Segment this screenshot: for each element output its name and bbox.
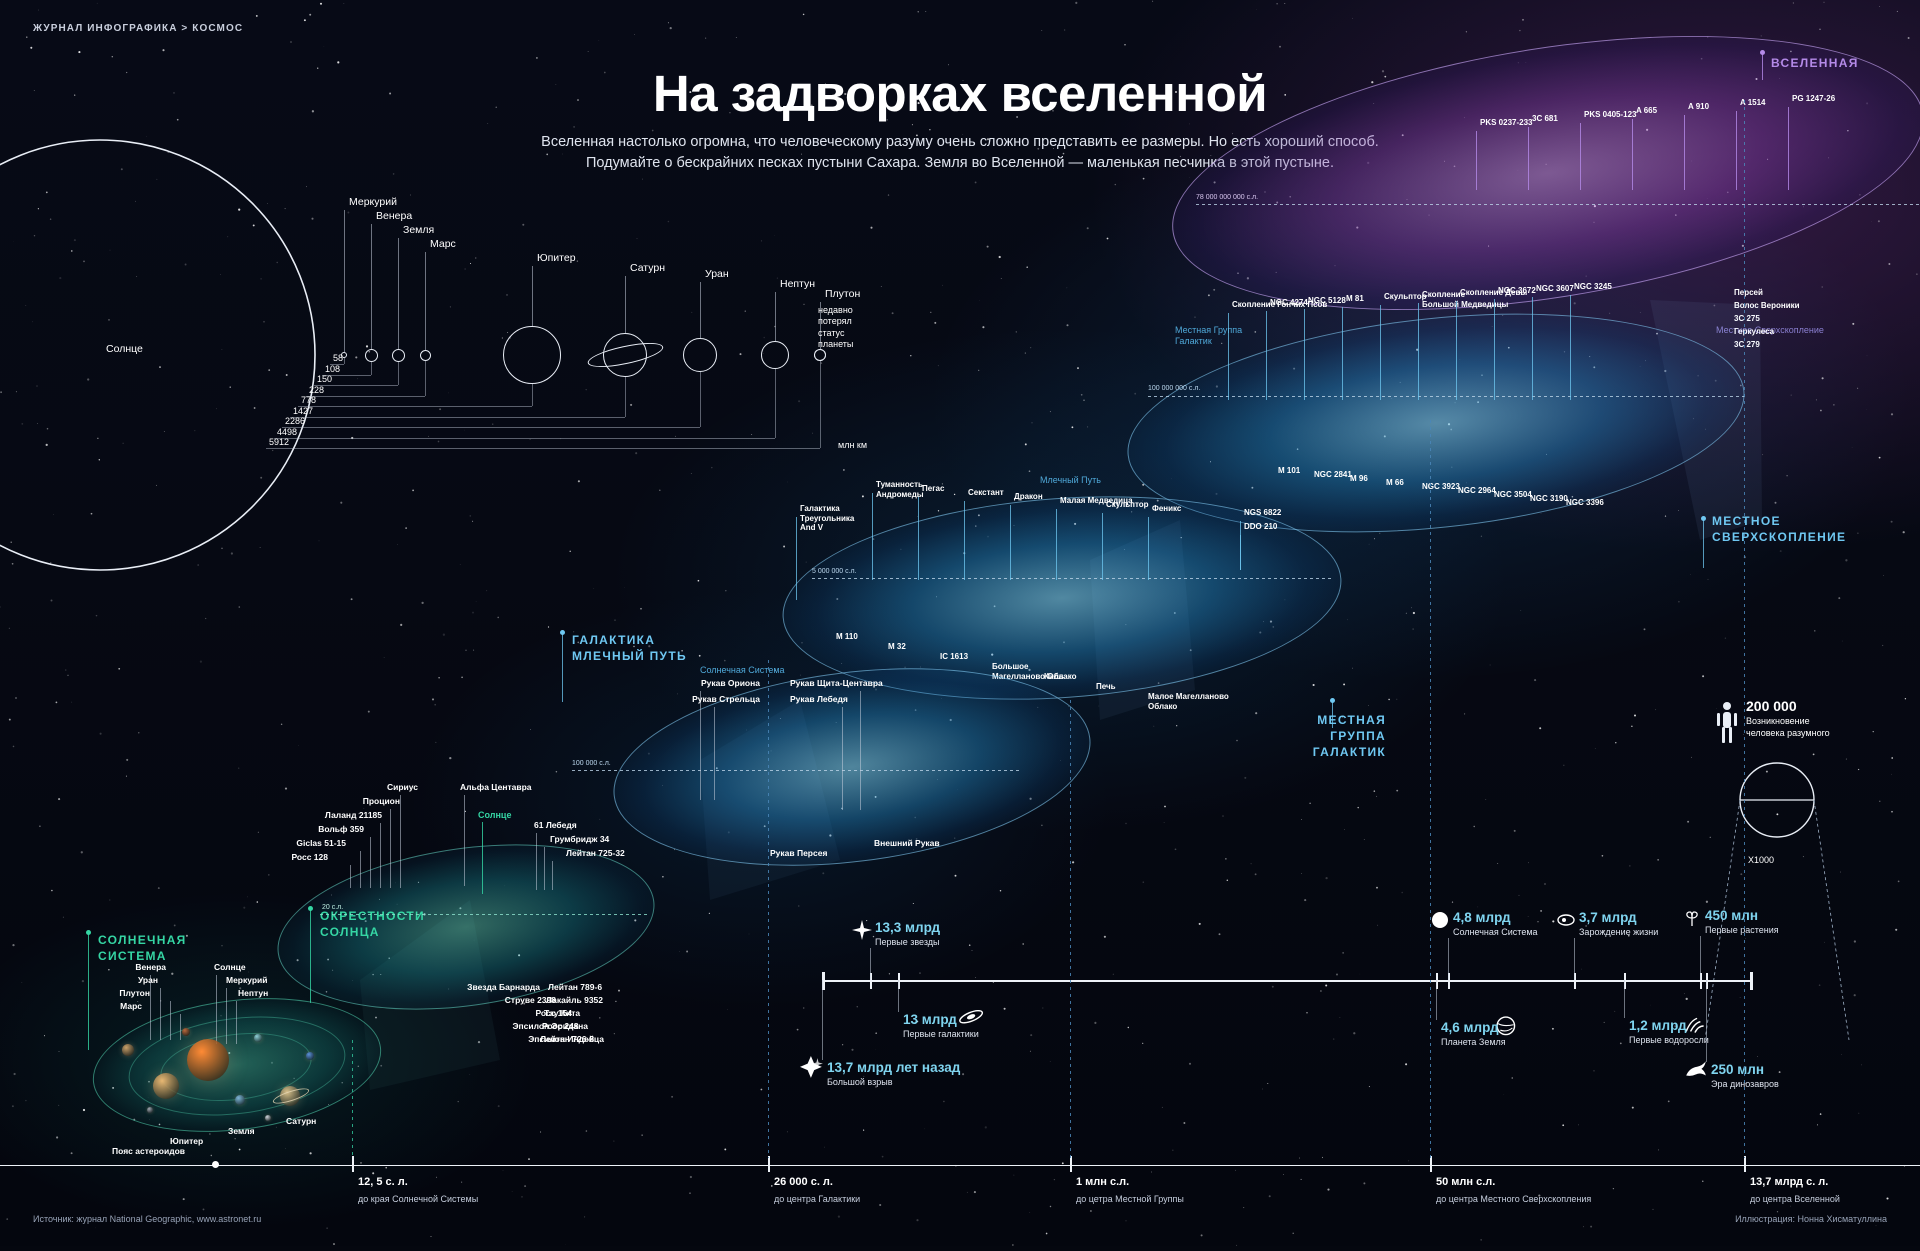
- bottom-scale-guide-3: [1070, 700, 1071, 1158]
- bottom-scale-caption-4: до центра Местного Сверхскопления: [1436, 1194, 1591, 1204]
- bottom-scale-block: 12, 5 с. л.до края Солнечной Системы26 0…: [0, 0, 1920, 1246]
- bottom-scale-caption-1: до края Солнечной Системы: [358, 1194, 478, 1204]
- bottom-scale-value-3: 1 млн с.л.: [1076, 1176, 1129, 1188]
- bottom-scale-caption-3: до цетра Местной Группы: [1076, 1194, 1184, 1204]
- bottom-scale-tick-3: [1070, 1156, 1072, 1172]
- bottom-scale-tick-5: [1744, 1156, 1746, 1172]
- bottom-scale-caption-5: до центра Вселенной: [1750, 1194, 1840, 1204]
- bottom-scale-guide-5: [1744, 100, 1745, 1158]
- bottom-scale-tick-4: [1430, 1156, 1432, 1172]
- bottom-scale-value-2: 26 000 с. л.: [774, 1176, 833, 1188]
- bottom-scale-tick-1: [352, 1156, 354, 1172]
- bottom-scale-guide-1: [352, 1040, 353, 1158]
- bottom-scale-guide-4: [1430, 420, 1431, 1158]
- bottom-scale-tick-2: [768, 1156, 770, 1172]
- bottom-scale-axis: [0, 1165, 1920, 1166]
- bottom-scale-origin-dot: [212, 1161, 219, 1168]
- illustration-credit: Иллюстрация: Нонна Хисматуллина: [1735, 1214, 1887, 1224]
- bottom-scale-value-4: 50 млн с.л.: [1436, 1176, 1495, 1188]
- bottom-scale-caption-2: до центра Галактики: [774, 1194, 860, 1204]
- bottom-scale-value-5: 13,7 млрд с. л.: [1750, 1176, 1828, 1188]
- bottom-scale-guide-2: [768, 660, 769, 1158]
- bottom-scale-value-1: 12, 5 с. л.: [358, 1176, 408, 1188]
- source-credit: Источник: журнал National Geographic, ww…: [33, 1214, 261, 1224]
